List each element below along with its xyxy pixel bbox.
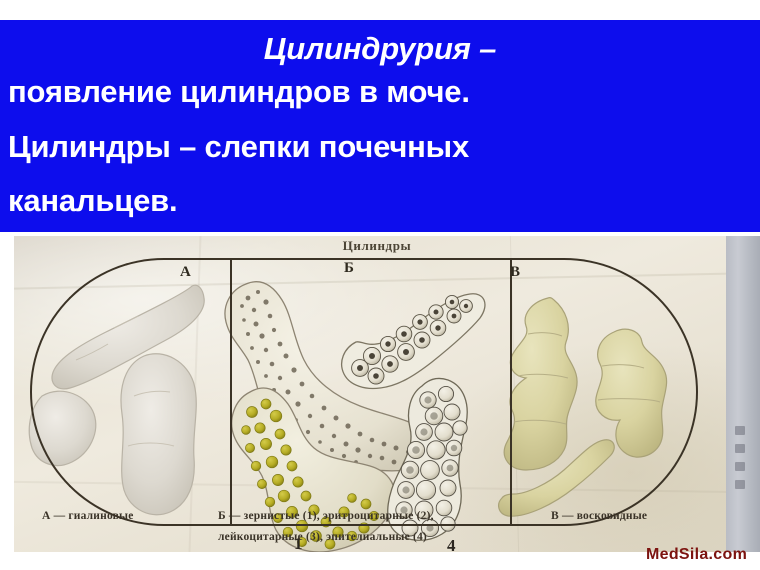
figure-photo: Цилиндры [14, 236, 740, 552]
caption-b-line-2: лейкоцитарные (3), эпителиальные (4) [218, 531, 427, 543]
page-edge-strip [726, 236, 760, 552]
page-edge-mark [735, 480, 745, 489]
panel-v-frame [512, 258, 698, 526]
panel-label-v: В [510, 264, 520, 281]
caption-b-line-1: Б — зернистые (1), эритроцитарные (2), [218, 510, 434, 522]
title-line-3: Цилиндры – слепки почечных [8, 128, 469, 166]
left-margin [0, 236, 14, 552]
watermark: MedSila.com [646, 546, 747, 564]
page-edge-mark [735, 444, 745, 453]
page-edge-mark [735, 462, 745, 471]
title-line-2: появление цилиндров в моче. [8, 73, 470, 111]
title-line-1: Цилиндрурия – [0, 30, 760, 68]
page-edge-mark [735, 426, 745, 435]
panel-b-frame [230, 258, 512, 526]
slide-root: Цилиндрурия – появление цилиндров в моче… [0, 0, 760, 570]
title-banner: Цилиндрурия – появление цилиндров в моче… [0, 20, 760, 232]
cast-number-4: 4 [447, 536, 456, 552]
caption-a: А — гиалиновые [42, 510, 134, 522]
panel-a-frame [30, 258, 230, 526]
panel-label-a: А [180, 264, 191, 281]
panel-label-b: Б [344, 260, 354, 277]
caption-v: В — восковидные [551, 510, 647, 522]
title-line-4: канальцев. [8, 182, 177, 220]
panel-frames [30, 258, 678, 526]
